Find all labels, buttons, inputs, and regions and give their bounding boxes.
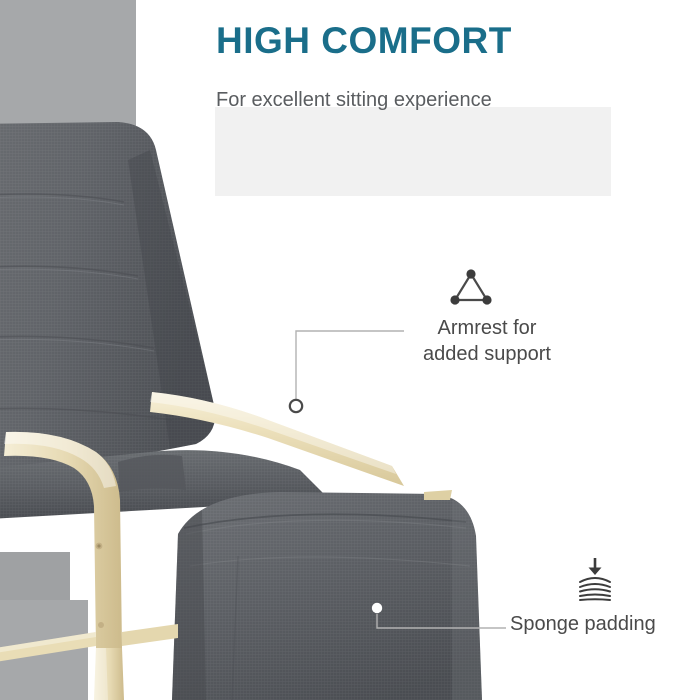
product-feature-image: HIGH COMFORT For excellent sitting exper… xyxy=(0,0,700,700)
compression-layers-icon xyxy=(571,556,619,604)
page-title: HIGH COMFORT xyxy=(216,22,512,61)
callout-armrest-line1: Armrest for xyxy=(411,316,563,342)
page-subtitle: For excellent sitting experience xyxy=(216,89,492,112)
wall-panel-lower-left xyxy=(0,600,88,700)
leader-line-sponge xyxy=(377,614,506,628)
triangle-nodes-icon xyxy=(447,266,495,308)
wall-panel-upper-left xyxy=(0,0,136,128)
subtitle-backdrop-panel xyxy=(215,107,611,196)
callout-label-sponge: Sponge padding xyxy=(510,612,656,638)
callout-label-armrest: Armrest for added support xyxy=(411,316,563,367)
marker-sponge-dot xyxy=(372,603,382,613)
leader-line-armrest xyxy=(296,331,404,400)
callout-armrest-line2: added support xyxy=(411,342,563,368)
marker-armrest-hollow-circle xyxy=(290,400,302,412)
